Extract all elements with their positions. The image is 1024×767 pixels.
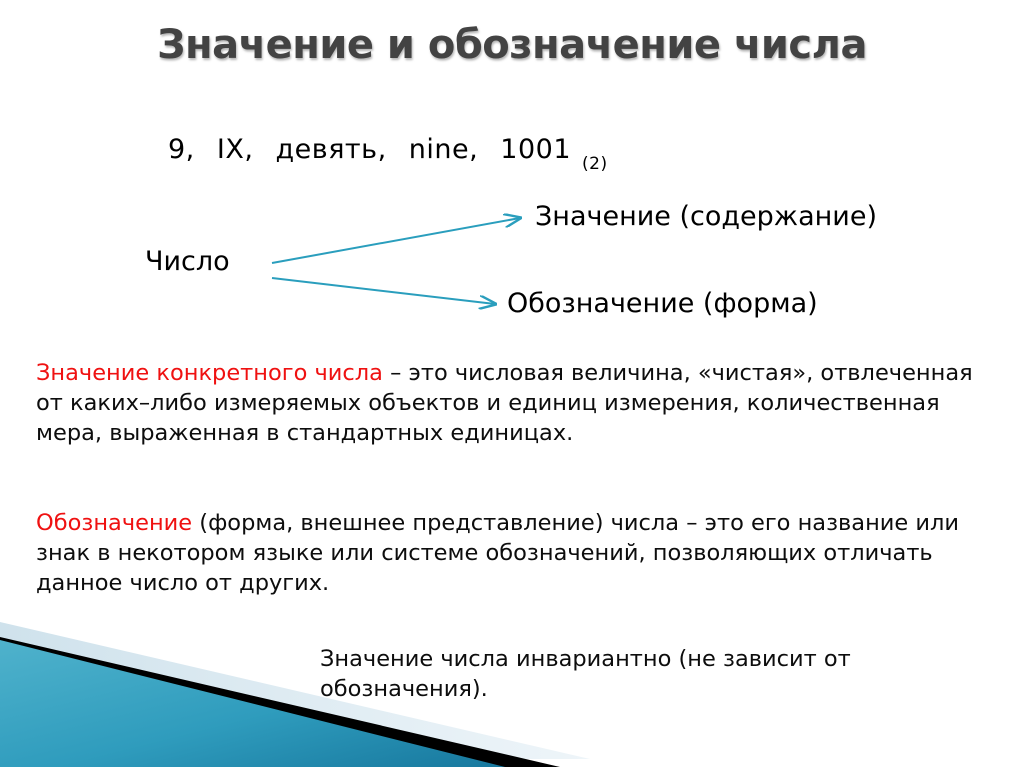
notation-item-roman: IX, — [217, 134, 254, 165]
paragraph-meaning-term: Значение конкретного числа — [36, 360, 383, 386]
slide: Значение и обозначение числа 9, IX, девя… — [0, 0, 1024, 767]
number-notation-line: 9, IX, девять, nine, 1001(2) — [168, 134, 610, 169]
notation-binary-base-subscript: (2) — [582, 154, 608, 174]
paragraph-notation-term: Обозначение — [36, 510, 192, 536]
diagram-node-notation: Обозначение (форма) — [507, 288, 818, 319]
page-title: Значение и обозначение числа — [0, 22, 1024, 68]
paragraph-notation: Обозначение (форма, внешнее представлени… — [36, 508, 981, 598]
paragraph-meaning: Значение конкретного числа – это числова… — [36, 358, 981, 448]
paragraph-invariance: Значение числа инвариантно (не зависит о… — [320, 644, 980, 704]
notation-item-decimal: 9, — [168, 134, 195, 165]
arrow-to-notation — [272, 278, 495, 304]
arrow-to-meaning — [272, 218, 520, 263]
notation-item-binary: 1001 — [500, 134, 571, 165]
diagram-node-meaning: Значение (содержание) — [535, 201, 877, 232]
notation-item-english-word: nine, — [409, 134, 478, 165]
diagram-node-source: Число — [145, 246, 230, 277]
notation-item-russian-word: девять, — [276, 134, 387, 165]
